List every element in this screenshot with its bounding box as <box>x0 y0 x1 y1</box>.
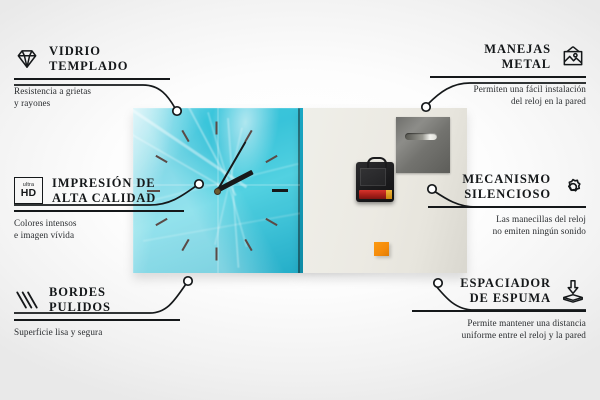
feature-rule <box>14 78 170 80</box>
infographic-canvas: VIDRIO TEMPLADO Resistencia a grietas y … <box>0 0 600 400</box>
foam-spacer <box>374 242 389 256</box>
feature-description: Las manecillas del reloj no emiten ningú… <box>428 213 586 238</box>
feature-title: VIDRIO TEMPLADO <box>49 44 128 74</box>
panel-edge <box>300 108 303 273</box>
feature-heading: ESPACIADOR DE ESPUMA <box>412 276 586 306</box>
feature-title: ESPACIADOR DE ESPUMA <box>460 276 551 306</box>
feature-title: MANEJAS METAL <box>484 42 551 72</box>
feature-mecanismo-silencioso: MECANISMO SILENCIOSO Las manecillas del … <box>428 172 586 237</box>
glass-quadrant <box>133 108 219 186</box>
metal-hanger-plate <box>396 117 450 173</box>
feature-heading: VIDRIO TEMPLADO <box>14 44 170 74</box>
gear-icon <box>560 174 586 200</box>
clock-center-hub <box>214 188 221 195</box>
feature-description: Resistencia a grietas y rayones <box>14 85 170 110</box>
feature-title: IMPRESIÓN DE ALTA CALIDAD <box>52 176 156 206</box>
glass-quadrant <box>217 108 301 186</box>
feature-bordes-pulidos: BORDES PULIDOS Superficie lisa y segura <box>14 285 180 338</box>
feature-manejas-metal: MANEJAS METAL Permiten una fácil instala… <box>430 42 586 107</box>
feature-heading: ultra HD IMPRESIÓN DE ALTA CALIDAD <box>14 176 184 206</box>
hanger-keyhole-slot <box>405 133 437 140</box>
feature-rule <box>14 319 180 321</box>
feature-vidrio-templado: VIDRIO TEMPLADO Resistencia a grietas y … <box>14 44 170 109</box>
ultra-hd-badge-icon: ultra HD <box>14 177 43 204</box>
diagonal-lines-icon <box>14 287 40 313</box>
feature-title: MECANISMO SILENCIOSO <box>462 172 551 202</box>
battery <box>359 190 391 199</box>
movement-face-plate <box>360 168 386 186</box>
feature-rule <box>430 76 586 78</box>
feature-heading: BORDES PULIDOS <box>14 285 180 315</box>
feature-description: Permite mantener una distancia uniforme … <box>412 317 586 342</box>
feature-description: Superficie lisa y segura <box>14 326 180 338</box>
feature-description: Colores intensos e imagen vívida <box>14 217 184 242</box>
movement-hanging-loop <box>367 157 387 168</box>
feature-rule <box>14 210 184 212</box>
feature-rule <box>412 310 586 312</box>
glass-quadrant <box>217 184 301 273</box>
feature-rule <box>428 206 586 208</box>
feature-impresion-alta-calidad: ultra HD IMPRESIÓN DE ALTA CALIDAD Color… <box>14 176 184 241</box>
clock-tick <box>272 189 288 192</box>
quartz-movement <box>356 162 394 202</box>
battery-terminal <box>386 190 392 199</box>
feature-heading: MANEJAS METAL <box>430 42 586 72</box>
feature-description: Permiten una fácil instalación del reloj… <box>430 83 586 108</box>
feature-title: BORDES PULIDOS <box>49 285 111 315</box>
clock-tick <box>216 247 218 260</box>
picture-frame-hanger-icon <box>560 44 586 70</box>
feature-heading: MECANISMO SILENCIOSO <box>428 172 586 202</box>
feature-espaciador-espuma: ESPACIADOR DE ESPUMA Permite mantener un… <box>412 276 586 341</box>
clock-tick <box>216 121 218 134</box>
diamond-icon <box>14 46 40 72</box>
arrow-down-pad-icon <box>560 278 586 304</box>
